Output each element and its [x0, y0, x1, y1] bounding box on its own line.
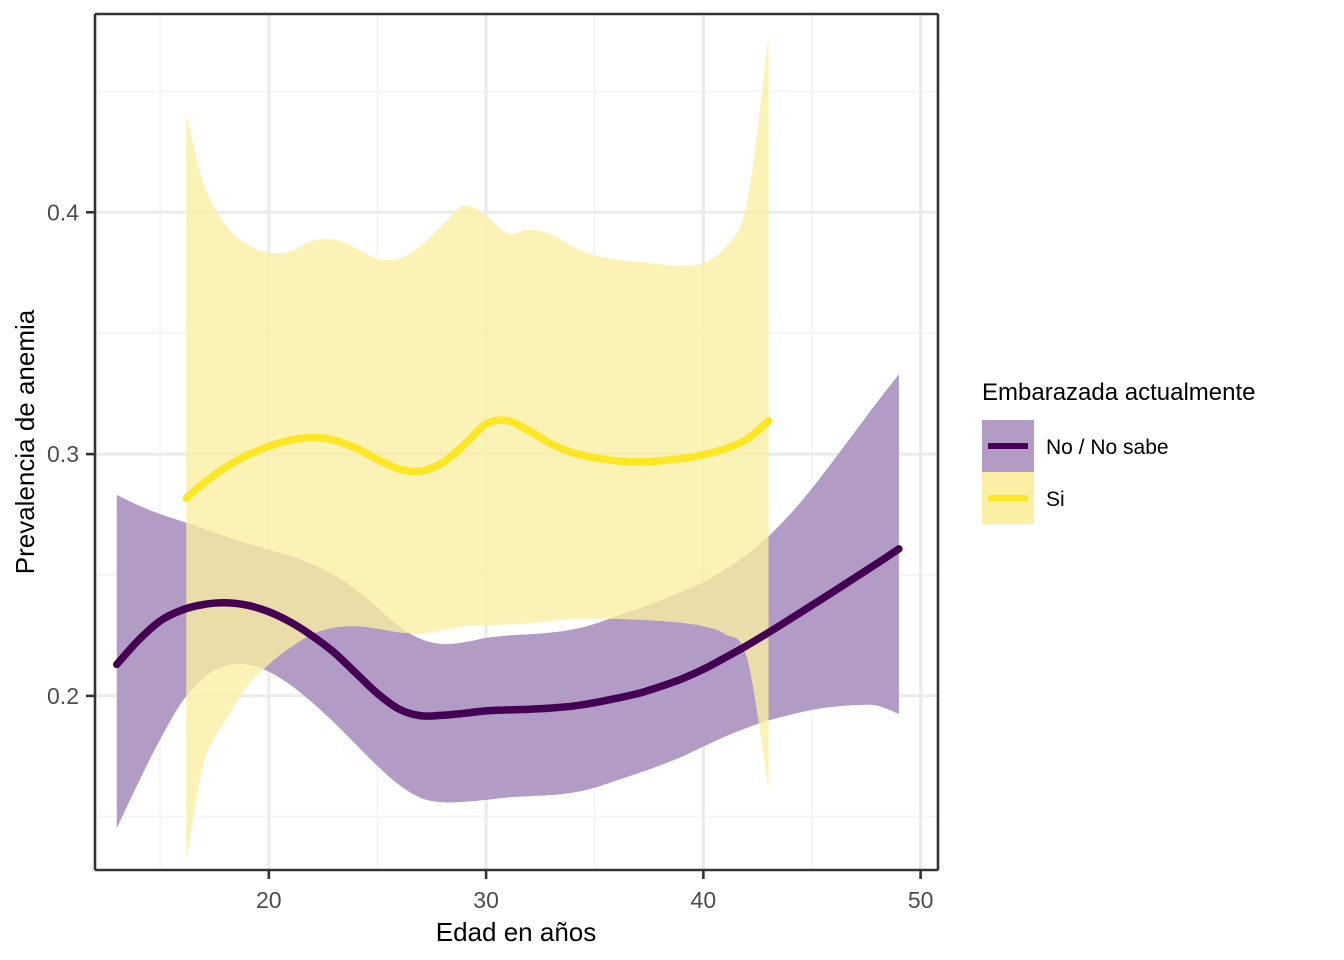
legend-item-si[interactable]: Si — [982, 472, 1065, 524]
y-tick-label: 0.4 — [47, 199, 79, 225]
x-tick-label: 40 — [691, 887, 717, 913]
chart-root: 203040500.20.30.4 Edad en años Prevalenc… — [0, 0, 1344, 960]
x-tick-label: 50 — [908, 887, 934, 913]
legend-label-si: Si — [1046, 488, 1065, 511]
y-axis-title: Prevalencia de anemia — [10, 309, 40, 574]
x-axis-title: Edad en años — [436, 917, 596, 947]
x-tick-label: 30 — [473, 887, 499, 913]
legend: Embarazada actualmente No / No sabe Si — [982, 379, 1256, 524]
legend-title: Embarazada actualmente — [982, 379, 1256, 406]
anemia-prevalence-chart: 203040500.20.30.4 Edad en años Prevalenc… — [0, 0, 1344, 960]
legend-label-no-no-sabe: No / No sabe — [1046, 436, 1169, 459]
x-tick-label: 20 — [256, 887, 282, 913]
y-tick-label: 0.3 — [47, 441, 79, 467]
y-tick-label: 0.2 — [47, 683, 79, 709]
legend-item-no-no-sabe[interactable]: No / No sabe — [982, 420, 1169, 472]
